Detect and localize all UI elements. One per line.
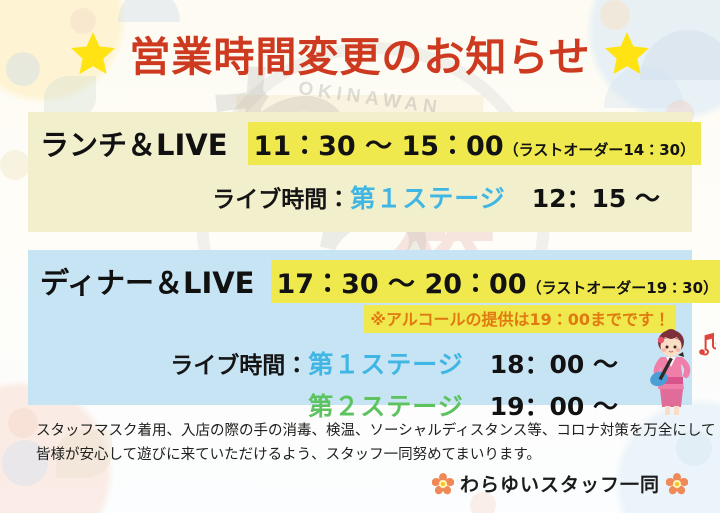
- dinner-section: ディナー＆LIVE 17：30 ～ 20：00（ラストオーダー19：30） ※ア…: [28, 250, 692, 405]
- lunch-hours-highlight: 11：30 ～ 15：00（ラストオーダー14：30）: [248, 122, 702, 165]
- lunch-hours: 11：30 ～ 15：00: [254, 131, 504, 162]
- lunch-live-row: ライブ時間： 第１ステージ 12：15 ～: [28, 165, 692, 215]
- lunch-last-order: （ラストオーダー14：30）: [504, 141, 695, 159]
- footer-line-1: スタッフマスク着用、入店の際の手の消毒、検温、ソーシャルディスタンス等、コロナ対…: [36, 420, 696, 444]
- dinner-hours-row: ディナー＆LIVE 17：30 ～ 20：00（ラストオーダー19：30）: [28, 250, 692, 303]
- dinner-stage-1-time: 18：00 ～: [490, 345, 618, 381]
- signature-text: わらゆいスタッフ一同: [460, 470, 660, 497]
- dinner-category-label: ディナー＆LIVE: [40, 260, 255, 302]
- footer-notice: スタッフマスク着用、入店の際の手の消毒、検温、ソーシャルディスタンス等、コロナ対…: [36, 420, 696, 468]
- dinner-live-row-2: 第２ステージ 19：00 ～: [28, 381, 692, 423]
- music-note-icon: [694, 330, 716, 356]
- lunch-category-label: ランチ＆LIVE: [40, 122, 228, 164]
- dinner-live-row-1: ライブ時間： 第１ステージ 18：00 ～: [28, 333, 692, 381]
- decor-flower-left-mid: [0, 150, 30, 180]
- dinner-stage-2-name: 第２ステージ: [308, 387, 464, 423]
- poster-canvas: わ ら 笑 OKINAWAN 営業時間変更のお知らせ ランチ＆LIVE 11：3…: [0, 0, 720, 513]
- dinner-stage-2-time: 19：00 ～: [490, 387, 618, 423]
- dinner-stage-1-name: 第１ステージ: [308, 345, 464, 381]
- dinner-hours-highlight: 17：30 ～ 20：00（ラストオーダー19：30）: [271, 260, 720, 303]
- hibiscus-icon-left: [432, 473, 454, 495]
- dinner-live-label: ライブ時間：: [170, 346, 308, 380]
- hibiscus-icon-right: [666, 473, 688, 495]
- footer-line-2: 皆様が安心して遊びに来ていただけるよう、スタッフ一同努めてまいります。: [36, 444, 696, 468]
- dinner-last-order: （ラストオーダー19：30）: [527, 279, 718, 297]
- star-icon-right: [603, 29, 651, 77]
- lunch-live-label: ライブ時間：: [212, 180, 350, 214]
- lunch-stage-1-name: 第１ステージ: [350, 179, 506, 215]
- alcohol-note: ※アルコールの提供は19：00までです！: [364, 305, 676, 333]
- decor-fan-top: [118, 0, 180, 22]
- dinner-hours: 17：30 ～ 20：00: [277, 269, 527, 300]
- page-title: 営業時間変更のお知らせ: [129, 23, 590, 83]
- title-row: 営業時間変更のお知らせ: [0, 22, 720, 84]
- dinner-alcohol-row: ※アルコールの提供は19：00までです！: [28, 305, 692, 333]
- star-icon-left: [69, 29, 117, 77]
- lunch-stage-1-time: 12：15 ～: [532, 179, 660, 215]
- signature-row: わらゆいスタッフ一同: [0, 470, 720, 497]
- lunch-section: ランチ＆LIVE 11：30 ～ 15：00（ラストオーダー14：30） ライブ…: [28, 112, 692, 232]
- lunch-hours-row: ランチ＆LIVE 11：30 ～ 15：00（ラストオーダー14：30）: [28, 112, 692, 165]
